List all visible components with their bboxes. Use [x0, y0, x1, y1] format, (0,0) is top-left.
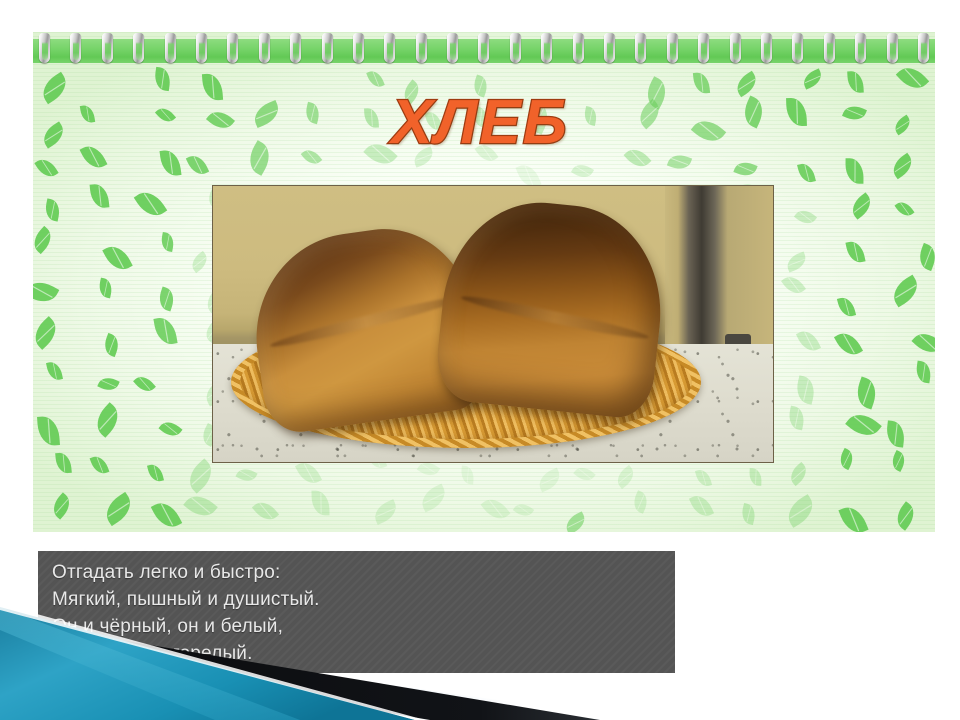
spiral-ring [510, 33, 521, 63]
leaf-icon [367, 69, 386, 90]
bread-loaf-right [433, 193, 671, 421]
slide: http://eda.vedo.ru ХЛЕБ Отгадать легко и… [0, 0, 960, 720]
leaf-icon [46, 360, 63, 381]
leaf-icon [834, 328, 863, 360]
riddle-line: Мягкий, пышный и душистый. [52, 586, 675, 613]
spiral-ring [918, 33, 929, 63]
leaf-icon [793, 205, 816, 227]
leaf-icon [885, 420, 906, 447]
leaf-icon [571, 160, 594, 181]
leaf-icon [914, 361, 932, 384]
leaf-icon [156, 287, 177, 312]
spiral-binding [33, 32, 935, 70]
spiral-ring [416, 33, 427, 63]
leaf-icon [838, 503, 868, 532]
riddle-line: А бывает подгорелый. [52, 640, 675, 667]
appliance-shape [665, 186, 773, 354]
leaf-icon [563, 511, 589, 532]
leaf-icon [44, 198, 62, 221]
leaf-icon [55, 452, 72, 474]
leaf-icon [888, 275, 924, 308]
spiral-ring [824, 33, 835, 63]
spiral-ring [165, 33, 176, 63]
spiral-ring [792, 33, 803, 63]
spiral-ring [730, 33, 741, 63]
spiral-ring [478, 33, 489, 63]
leaf-icon [888, 152, 916, 179]
spiral-ring [133, 33, 144, 63]
leaf-icon [512, 500, 533, 520]
spiral-ring [635, 33, 646, 63]
leaf-icon [33, 276, 59, 308]
leaf-icon [134, 186, 168, 222]
leaf-icon [182, 458, 218, 493]
leaf-icon [630, 490, 651, 514]
leaf-icon [852, 376, 880, 409]
spiral-ring [102, 33, 113, 63]
leaf-icon [154, 315, 178, 346]
leaf-icon [846, 240, 866, 265]
spiral-ring [384, 33, 395, 63]
leaf-icon [891, 501, 919, 530]
leaf-icon [749, 468, 762, 486]
spiral-ring [39, 33, 50, 63]
leaf-icon [613, 465, 638, 489]
bread-photo [212, 185, 774, 463]
spiral-ring [887, 33, 898, 63]
spiral-ring [855, 33, 866, 63]
leaf-icon [837, 296, 856, 319]
leaf-icon [98, 374, 120, 394]
leaf-icon [188, 250, 211, 272]
leaf-icon [90, 402, 125, 438]
leaf-icon [147, 463, 164, 484]
leaf-icon [845, 159, 863, 185]
leaf-icon [786, 462, 811, 486]
leaf-icon [371, 499, 400, 525]
spiral-ring [70, 33, 81, 63]
leaf-icon [573, 463, 596, 485]
spiral-ring [196, 33, 207, 63]
leaf-icon [101, 333, 122, 357]
leaf-icon [158, 417, 182, 440]
leaf-icon [102, 241, 133, 275]
leaf-icon [252, 497, 279, 525]
leaf-icon [150, 498, 181, 532]
leaf-icon [460, 466, 474, 485]
riddle-line: Он и чёрный, он и белый, [52, 613, 675, 640]
leaf-icon [183, 489, 218, 522]
leaf-icon [796, 327, 821, 355]
leaf-icon [535, 468, 563, 493]
leaf-icon [100, 492, 137, 526]
leaf-icon [417, 484, 449, 513]
leaf-icon [186, 151, 209, 177]
leaf-icon [785, 251, 809, 272]
leaf-icon [916, 243, 935, 271]
leaf-icon [37, 416, 60, 447]
leaf-icon [740, 502, 758, 524]
spiral-ring [353, 33, 364, 63]
leaf-icon [836, 448, 856, 470]
spiral-ring [227, 33, 238, 63]
leaf-icon [797, 161, 816, 184]
leaf-icon [845, 407, 882, 442]
leaf-icon [692, 71, 709, 94]
leaf-icon [236, 465, 258, 485]
spiral-ring [290, 33, 301, 63]
leaf-icon [133, 372, 156, 395]
leaf-icon [794, 375, 818, 404]
leaf-icon [667, 151, 692, 173]
leaf-icon [911, 328, 935, 360]
leaf-icon [160, 232, 176, 252]
leaf-icon [895, 198, 915, 219]
leaf-icon [695, 467, 712, 488]
leaf-icon [786, 406, 806, 431]
spiral-ring [604, 33, 615, 63]
leaf-icon [689, 492, 714, 521]
spiral-ring [573, 33, 584, 63]
spiral-ring [761, 33, 772, 63]
leaf-icon [889, 450, 909, 472]
leaf-icon [35, 155, 59, 181]
leaf-icon [98, 278, 115, 299]
riddle-textbox: Отгадать легко и быстро: Мягкий, пышный … [38, 551, 675, 673]
leaf-icon [734, 158, 758, 179]
leaf-icon [33, 316, 63, 350]
bread-photo-image [213, 186, 773, 462]
leaf-icon [89, 454, 109, 477]
spiral-ring [541, 33, 552, 63]
spiral-ring [322, 33, 333, 63]
leaf-icon [782, 494, 819, 528]
spiral-ring [259, 33, 270, 63]
spiral-ring [447, 33, 458, 63]
leaf-icon [153, 67, 172, 91]
leaf-icon [848, 192, 876, 219]
spiral-ring [698, 33, 709, 63]
page-title: ХЛЕБ [0, 92, 960, 154]
leaf-icon [33, 226, 57, 254]
leaf-icon [848, 70, 865, 93]
spiral-ring [667, 33, 678, 63]
leaf-icon [781, 272, 806, 298]
riddle-line: Отгадать легко и быстро: [52, 559, 675, 586]
leaf-icon [481, 493, 511, 524]
leaf-icon [312, 491, 330, 516]
leaf-icon [90, 183, 110, 209]
leaf-icon [800, 68, 824, 89]
leaf-icon [48, 492, 75, 519]
